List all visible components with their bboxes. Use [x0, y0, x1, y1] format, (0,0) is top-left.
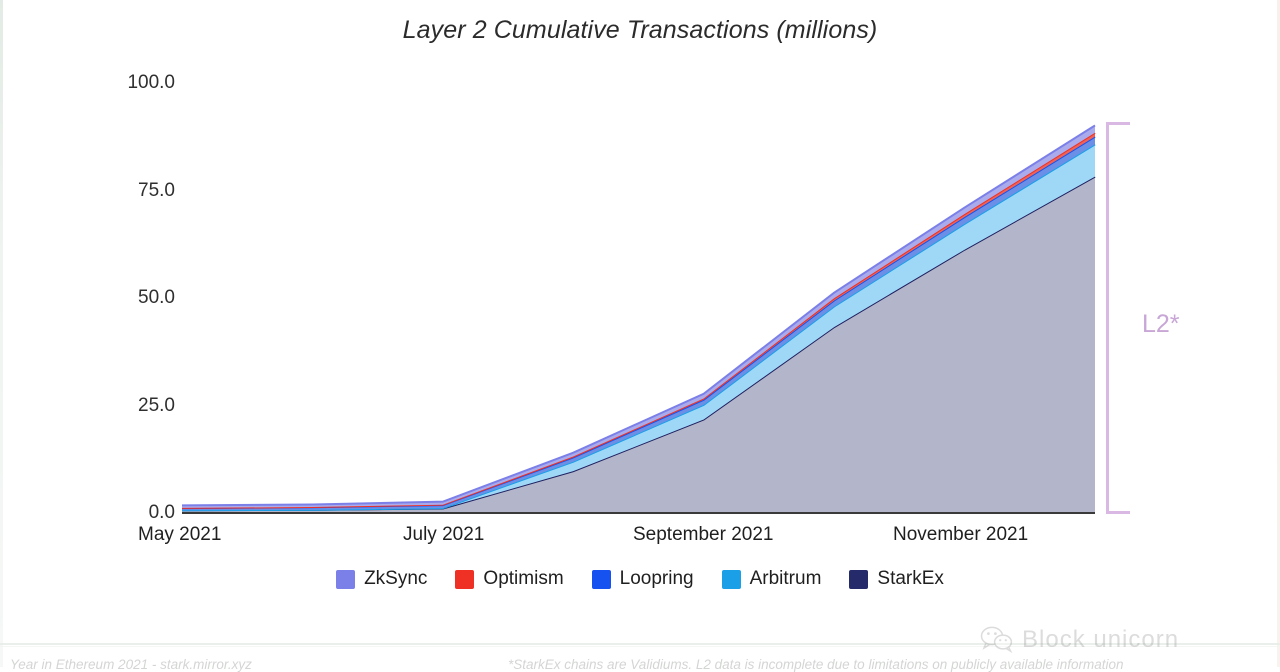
- x-tick-label-may: May 2021: [138, 524, 221, 546]
- watermark-text: Block unicorn: [1022, 626, 1179, 654]
- legend-swatch-optimism: [455, 570, 474, 589]
- footnote-disclaimer: *StarkEx chains are Validiums. L2 data i…: [508, 657, 1124, 672]
- legend-label: Optimism: [483, 568, 563, 590]
- legend-swatch-zksync: [336, 570, 355, 589]
- legend-item-optimism[interactable]: Optimism: [455, 568, 563, 590]
- legend-label: ZkSync: [364, 568, 427, 590]
- l2-bracket-annotation: [1106, 122, 1130, 514]
- x-tick-label-november: November 2021: [893, 524, 1028, 546]
- l2-bracket-label: L2*: [1142, 310, 1180, 339]
- legend-swatch-starkex: [849, 570, 868, 589]
- legend-swatch-arbitrum: [722, 570, 741, 589]
- chart-legend: ZkSyncOptimismLoopringArbitrumStarkEx: [0, 568, 1280, 590]
- legend-item-zksync[interactable]: ZkSync: [336, 568, 427, 590]
- x-tick-label-july: July 2021: [403, 524, 484, 546]
- legend-item-loopring[interactable]: Loopring: [592, 568, 694, 590]
- legend-item-starkex[interactable]: StarkEx: [849, 568, 944, 590]
- stacked-area-svg: [0, 0, 1280, 667]
- x-axis-baseline: [182, 512, 1095, 514]
- wechat-icon: [980, 626, 1014, 654]
- x-tick-label-september: September 2021: [633, 524, 774, 546]
- watermark: Block unicorn: [980, 626, 1179, 654]
- legend-item-arbitrum[interactable]: Arbitrum: [722, 568, 822, 590]
- legend-swatch-loopring: [592, 570, 611, 589]
- chart-plot-area: 100.0 75.0 50.0 25.0 0.0 May 2021 July 2…: [0, 0, 1280, 667]
- footnote-source: Year in Ethereum 2021 - stark.mirror.xyz: [10, 657, 252, 672]
- legend-label: StarkEx: [877, 568, 944, 590]
- legend-label: Arbitrum: [750, 568, 822, 590]
- legend-label: Loopring: [620, 568, 694, 590]
